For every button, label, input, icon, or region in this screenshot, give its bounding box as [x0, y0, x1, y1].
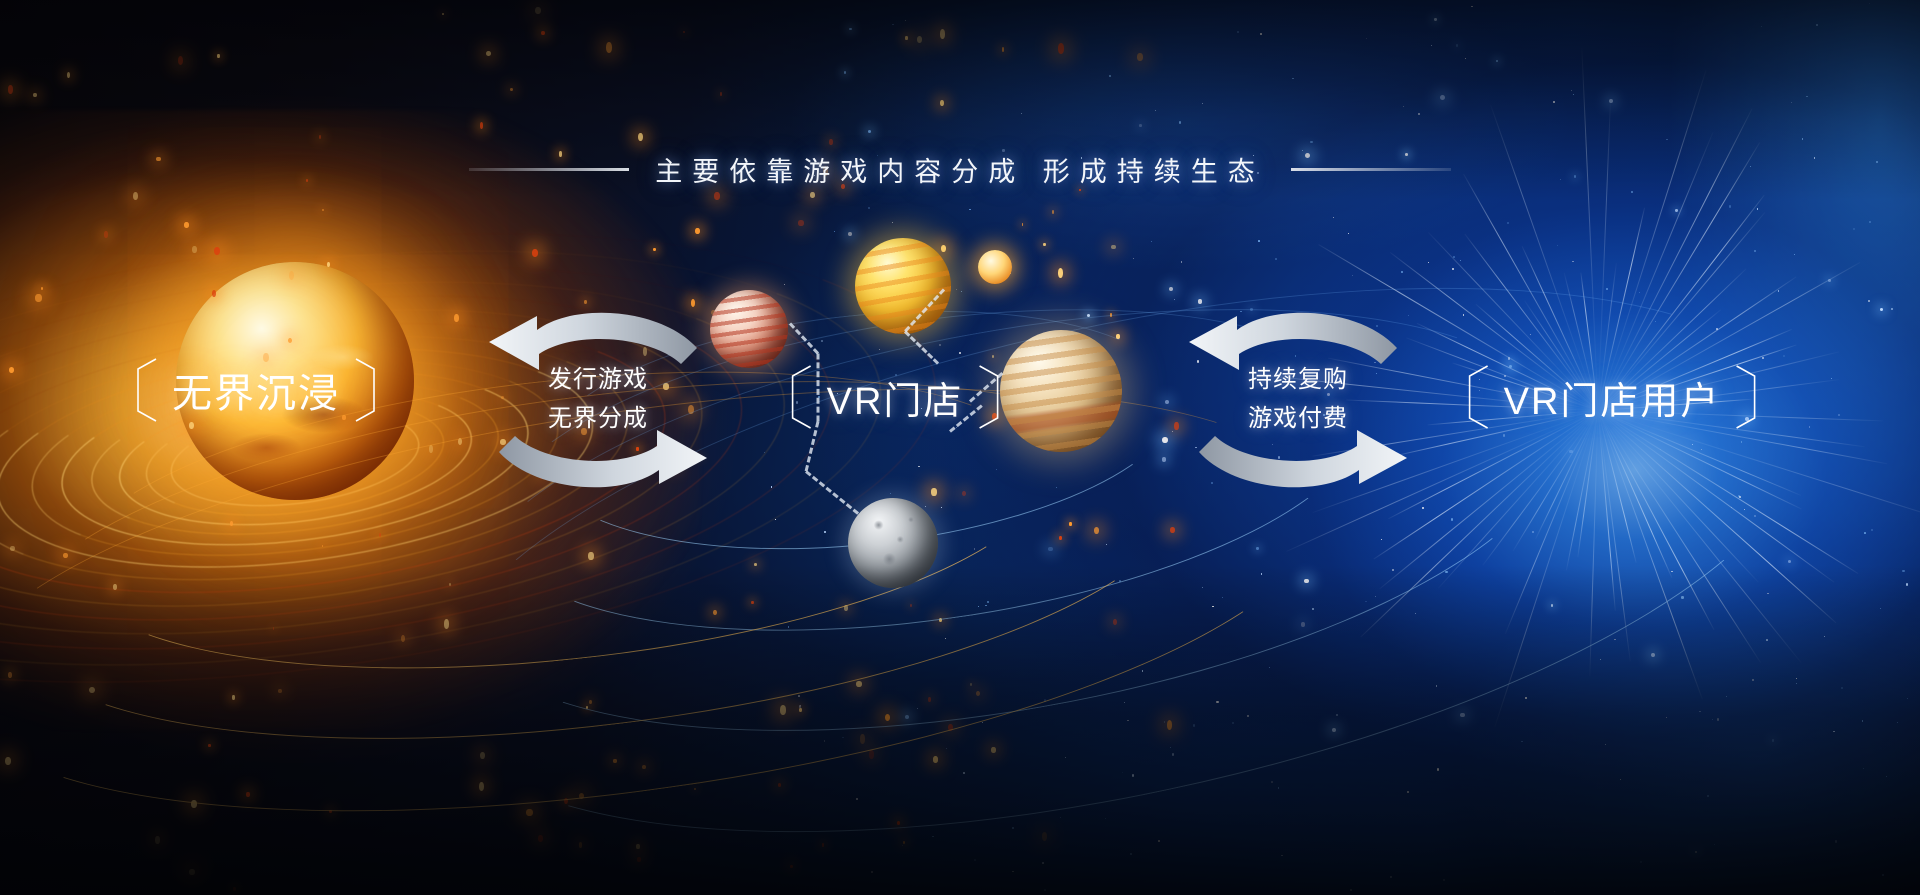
- star: [1794, 254, 1795, 255]
- page-title: 主要依靠游戏内容分成 形成持续生态: [655, 150, 1265, 189]
- bracket-left-icon: [134, 357, 158, 423]
- arrow-right-curved-icon: [1183, 290, 1413, 510]
- ember-particle: [1111, 245, 1116, 250]
- jupiter-planet-icon: [1000, 330, 1122, 452]
- yellow-planet-icon: [855, 238, 951, 334]
- node-vr-store[interactable]: VR门店: [789, 364, 1002, 430]
- ember-particle: [184, 222, 189, 228]
- ember-particle: [1058, 268, 1063, 278]
- star: [1729, 205, 1731, 207]
- node-label-sun: 无界沉浸: [172, 361, 340, 419]
- bracket-right-icon: [977, 364, 1001, 430]
- flow-group-repurchase: 持续复购 游戏付费: [1183, 290, 1413, 510]
- small-amber-planet-icon: [978, 250, 1012, 284]
- bracket-left-icon: [789, 364, 813, 430]
- node-vr-store-users[interactable]: VR门店用户: [1466, 364, 1759, 430]
- flow-group-publish: 发行游戏 无界分成: [483, 290, 713, 510]
- star: [848, 232, 852, 236]
- star: [1606, 288, 1608, 290]
- star: [1675, 209, 1677, 211]
- star: [1838, 414, 1840, 416]
- arrow-left-curved-icon: [483, 290, 713, 510]
- ember-particle: [104, 231, 108, 237]
- star: [1891, 308, 1893, 310]
- ember-particle: [695, 228, 699, 234]
- ember-particle: [653, 248, 655, 251]
- star: [1831, 378, 1832, 379]
- star: [1783, 355, 1785, 357]
- headline-row: 主要依靠游戏内容分成 形成持续生态: [0, 150, 1920, 189]
- headline-rule-right: [1291, 168, 1451, 171]
- ember-particle: [212, 290, 216, 297]
- star: [1864, 532, 1866, 534]
- node-label-user: VR门店用户: [1504, 370, 1721, 425]
- red-striped-planet-icon: [710, 290, 788, 368]
- star: [1275, 258, 1277, 260]
- node-wujie-chenjin[interactable]: 无界沉浸: [134, 357, 378, 423]
- ember-particle: [1043, 243, 1045, 246]
- star: [1869, 221, 1871, 223]
- node-label-store: VR门店: [827, 370, 964, 425]
- ember-particle: [35, 294, 41, 302]
- bottom-vignette: [0, 565, 1920, 895]
- bracket-right-icon: [354, 357, 378, 423]
- bracket-left-icon: [1466, 364, 1490, 430]
- scene-canvas: 主要依靠游戏内容分成 形成持续生态 无界沉浸 VR门店 VR门店用户: [0, 0, 1920, 895]
- star: [1348, 233, 1349, 234]
- star: [1557, 245, 1558, 246]
- ember-particle: [10, 546, 15, 551]
- star: [1333, 217, 1334, 218]
- headline-rule-left: [469, 168, 629, 171]
- star: [1639, 292, 1640, 293]
- ember-particle: [798, 220, 803, 226]
- star: [1169, 287, 1173, 291]
- star: [868, 207, 870, 209]
- ember-particle: [454, 314, 459, 322]
- star: [784, 284, 785, 285]
- star: [1258, 240, 1260, 242]
- bracket-right-icon: [1734, 364, 1758, 430]
- ember-particle: [192, 246, 197, 253]
